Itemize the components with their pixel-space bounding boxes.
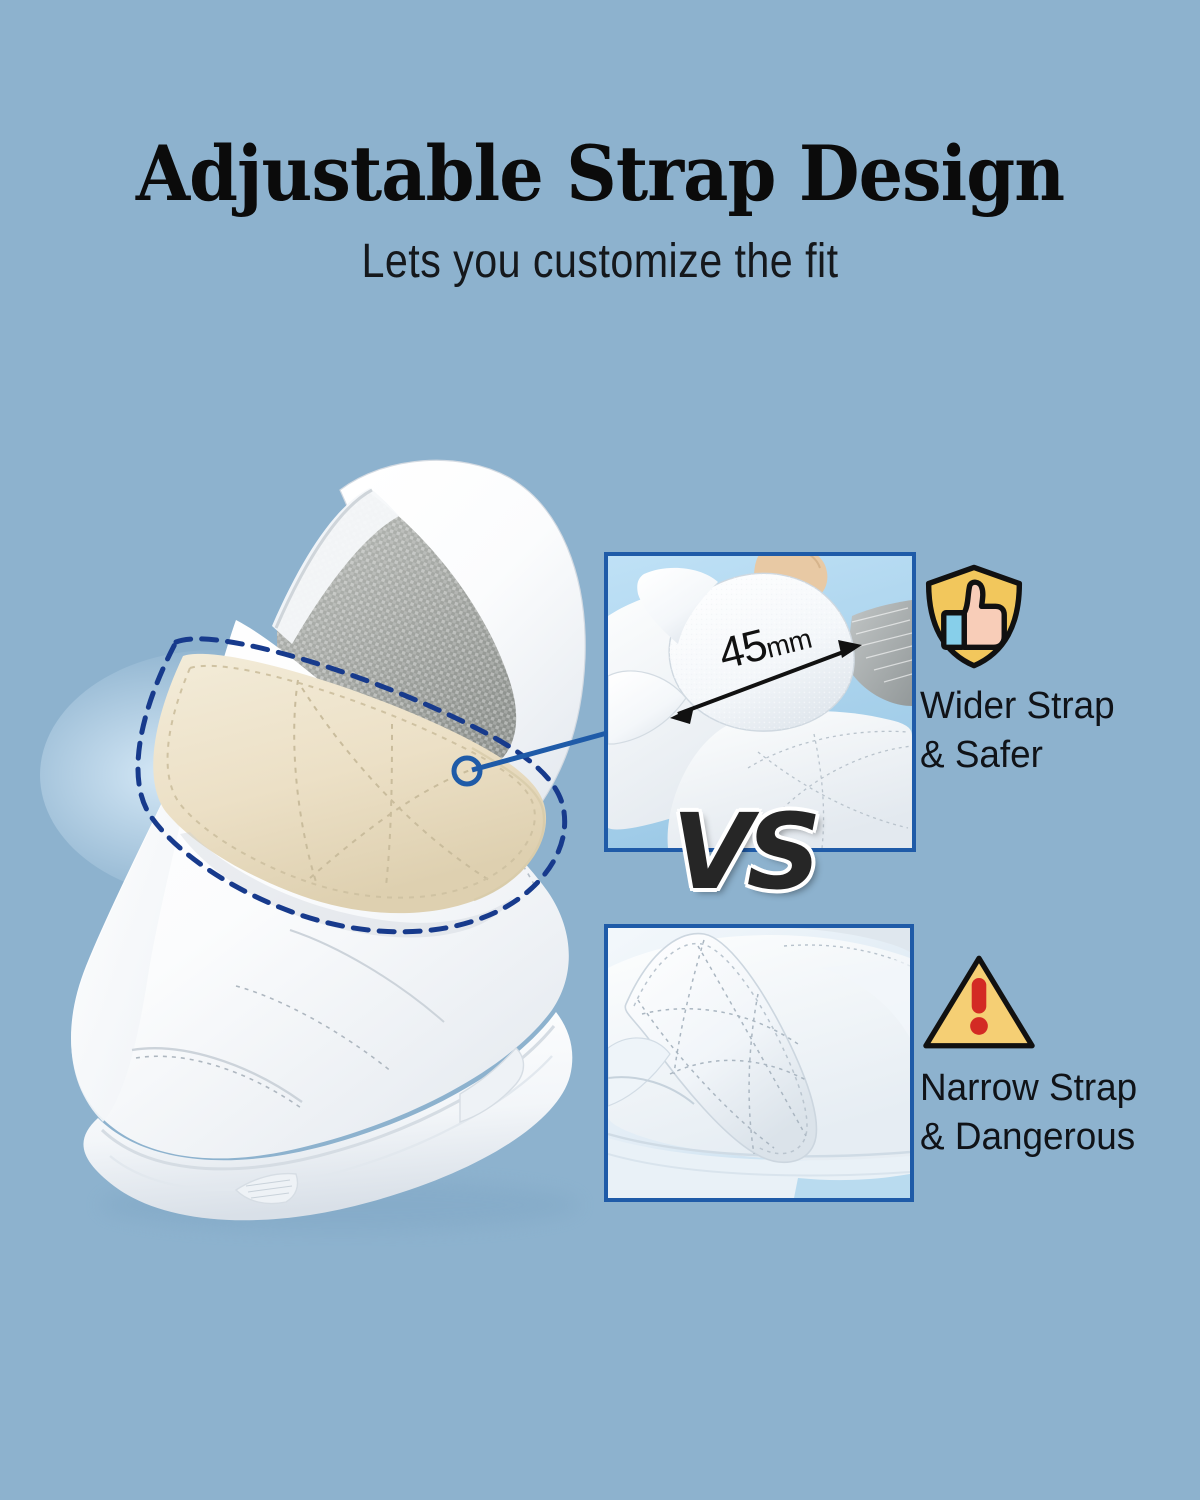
header: Adjustable Strap Design Lets you customi… xyxy=(0,0,1200,286)
shoe-illustration xyxy=(40,430,640,1250)
warning-triangle-icon xyxy=(920,952,1038,1052)
vs-badge: VS xyxy=(672,800,815,904)
hero-product-image xyxy=(40,430,640,1250)
panel-narrow-strap[interactable] xyxy=(604,924,914,1202)
feature-label: Narrow Strap & Dangerous xyxy=(920,1064,1182,1161)
dimension-unit: mm xyxy=(763,623,815,664)
narrow-strap-photo xyxy=(608,928,910,1198)
shield-thumbs-up-icon xyxy=(920,562,1028,670)
feature-wider-strap: Wider Strap & Safer xyxy=(920,562,1190,779)
feature-narrow-strap: Narrow Strap & Dangerous xyxy=(920,952,1190,1161)
page-subtitle: Lets you customize the fit xyxy=(84,238,1116,286)
feature-label: Wider Strap & Safer xyxy=(920,682,1182,779)
page-title: Adjustable Strap Design xyxy=(48,136,1152,212)
